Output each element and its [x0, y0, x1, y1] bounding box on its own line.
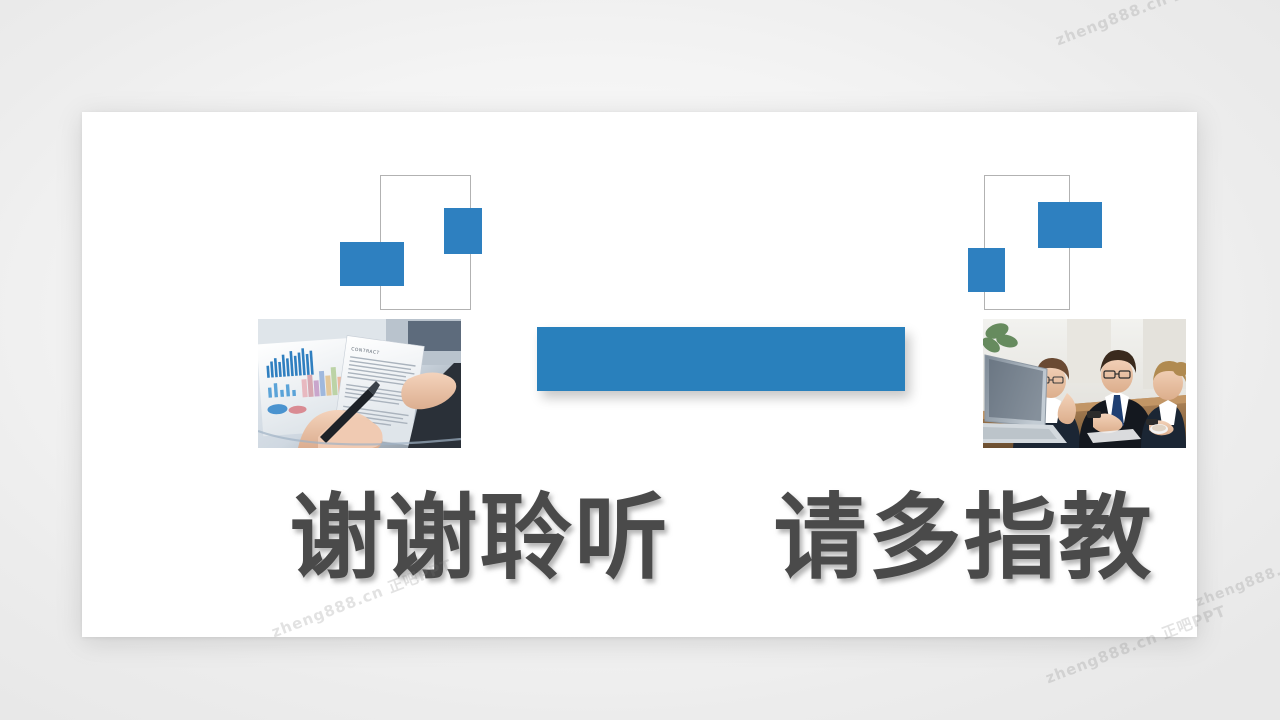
title-please-advise: 请多指教: [774, 490, 1154, 588]
title-thank-you: 谢谢聆听: [290, 490, 670, 588]
page-title: 谢谢聆听 请多指教: [164, 490, 1279, 588]
left-decorative-squares: [340, 175, 500, 325]
decor-blue-block-left-upper: [444, 208, 482, 254]
right-decorative-squares: [968, 175, 1133, 325]
decor-blue-block-right-lower: [968, 248, 1005, 292]
watermark: zheng888.cn 正吧PPT: [1052, 0, 1239, 50]
center-blue-banner: [537, 327, 905, 391]
decor-blue-block-left-lower: [340, 242, 404, 286]
business-meeting-photo: [983, 319, 1186, 448]
decor-blue-block-right-upper: [1038, 202, 1102, 248]
business-contract-review-photo: CONTRACT: [258, 319, 461, 448]
slide-card: CONTRACT: [82, 112, 1197, 637]
